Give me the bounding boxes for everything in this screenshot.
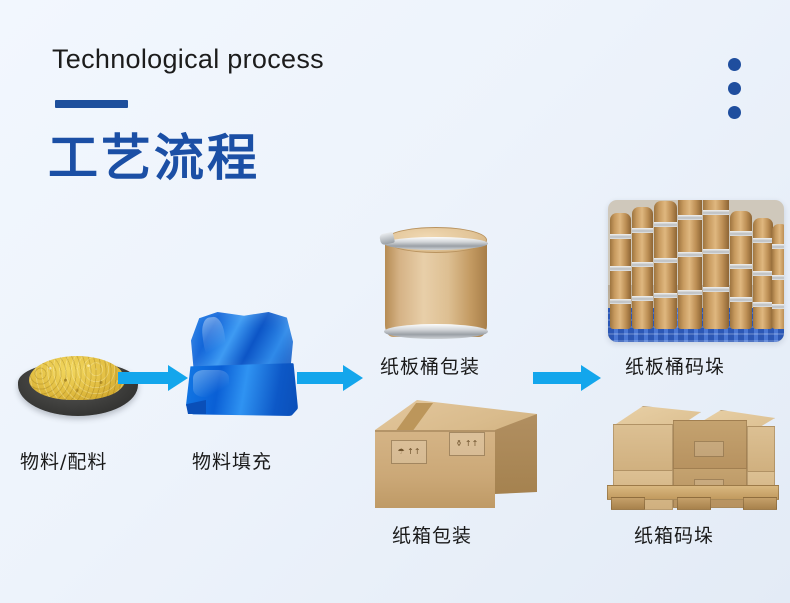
title-underline-rule [55, 100, 128, 108]
decor-dots-group [728, 58, 741, 119]
drum-column [703, 200, 729, 329]
carton-box-icon: ☂ ↑↑ ⚱ ↑↑ [375, 400, 537, 512]
step-label-material: 物料/配料 [20, 447, 107, 474]
blue-bag-icon [186, 312, 298, 420]
drum-column [753, 218, 773, 329]
flow-arrow-1 [118, 365, 188, 391]
page-title: 工艺流程 [48, 118, 260, 190]
drum-top-ring-shape [384, 237, 488, 250]
arrow-shaft [297, 372, 345, 384]
pallet-box [613, 424, 673, 472]
arrow-shaft [118, 372, 170, 384]
decor-dot-icon [728, 82, 741, 95]
pallet-box [747, 426, 775, 472]
pallet-foot [743, 497, 777, 510]
yellow-granule-heap-shape [29, 356, 125, 400]
step-label-carton-palletize: 纸箱码垛 [634, 521, 714, 548]
pallet-box [673, 420, 747, 470]
arrow-head-icon [168, 365, 188, 391]
pallet-shipping-symbol [694, 441, 724, 457]
step-label-carton-pack: 纸箱包装 [392, 521, 472, 548]
stacked-drums-photo [608, 200, 784, 342]
step-label-filling: 物料填充 [192, 447, 272, 474]
decor-dot-icon [728, 106, 741, 119]
step-label-drum-palletize: 纸板桶码垛 [625, 352, 725, 379]
shipping-symbol-left: ☂ ↑↑ [391, 440, 427, 464]
drum-column [610, 213, 631, 329]
flow-arrow-2 [297, 365, 363, 391]
pallet-foot [611, 497, 645, 510]
fiber-drum-icon [385, 223, 487, 343]
drum-bottom-ring-shape [384, 324, 488, 339]
pallet-foot [677, 497, 711, 510]
palletized-cartons-icon [603, 398, 783, 510]
drum-body-shape [385, 239, 487, 337]
drum-column [632, 207, 653, 329]
drum-column [772, 224, 784, 329]
page-subtitle-english: Technological process [52, 44, 324, 75]
arrow-shaft [533, 372, 583, 384]
decor-dot-icon [728, 58, 741, 71]
arrow-head-icon [343, 365, 363, 391]
arrow-head-icon [581, 365, 601, 391]
drum-column [730, 211, 752, 329]
drum-column [654, 201, 677, 329]
shipping-symbol-right: ⚱ ↑↑ [449, 432, 485, 456]
drum-column [678, 200, 702, 329]
step-label-drum-pack: 纸板桶包装 [380, 352, 480, 379]
process-infographic: Technological process 工艺流程 物料/配料 物料填充 [0, 0, 790, 603]
flow-arrow-3 [533, 365, 601, 391]
